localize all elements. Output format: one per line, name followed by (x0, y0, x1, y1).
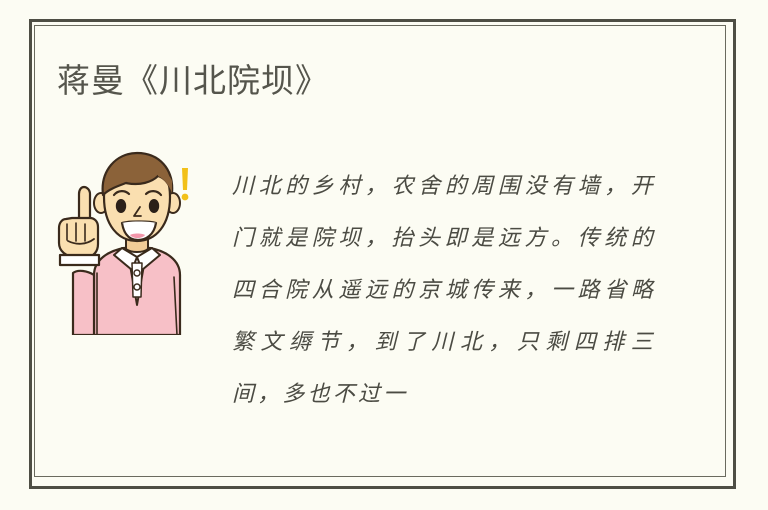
exclamation-mark-icon (178, 167, 192, 201)
document-page: 蒋曼《川北院坝》 (0, 0, 768, 510)
page-title: 蒋曼《川北院坝》 (57, 58, 329, 104)
article-body-text: 川北的乡村，农舍的周围没有墙，开门就是院坝，抬头即是远方。传统的四合院从遥远的京… (232, 161, 656, 421)
man-pointing-up-illustration (52, 145, 222, 335)
